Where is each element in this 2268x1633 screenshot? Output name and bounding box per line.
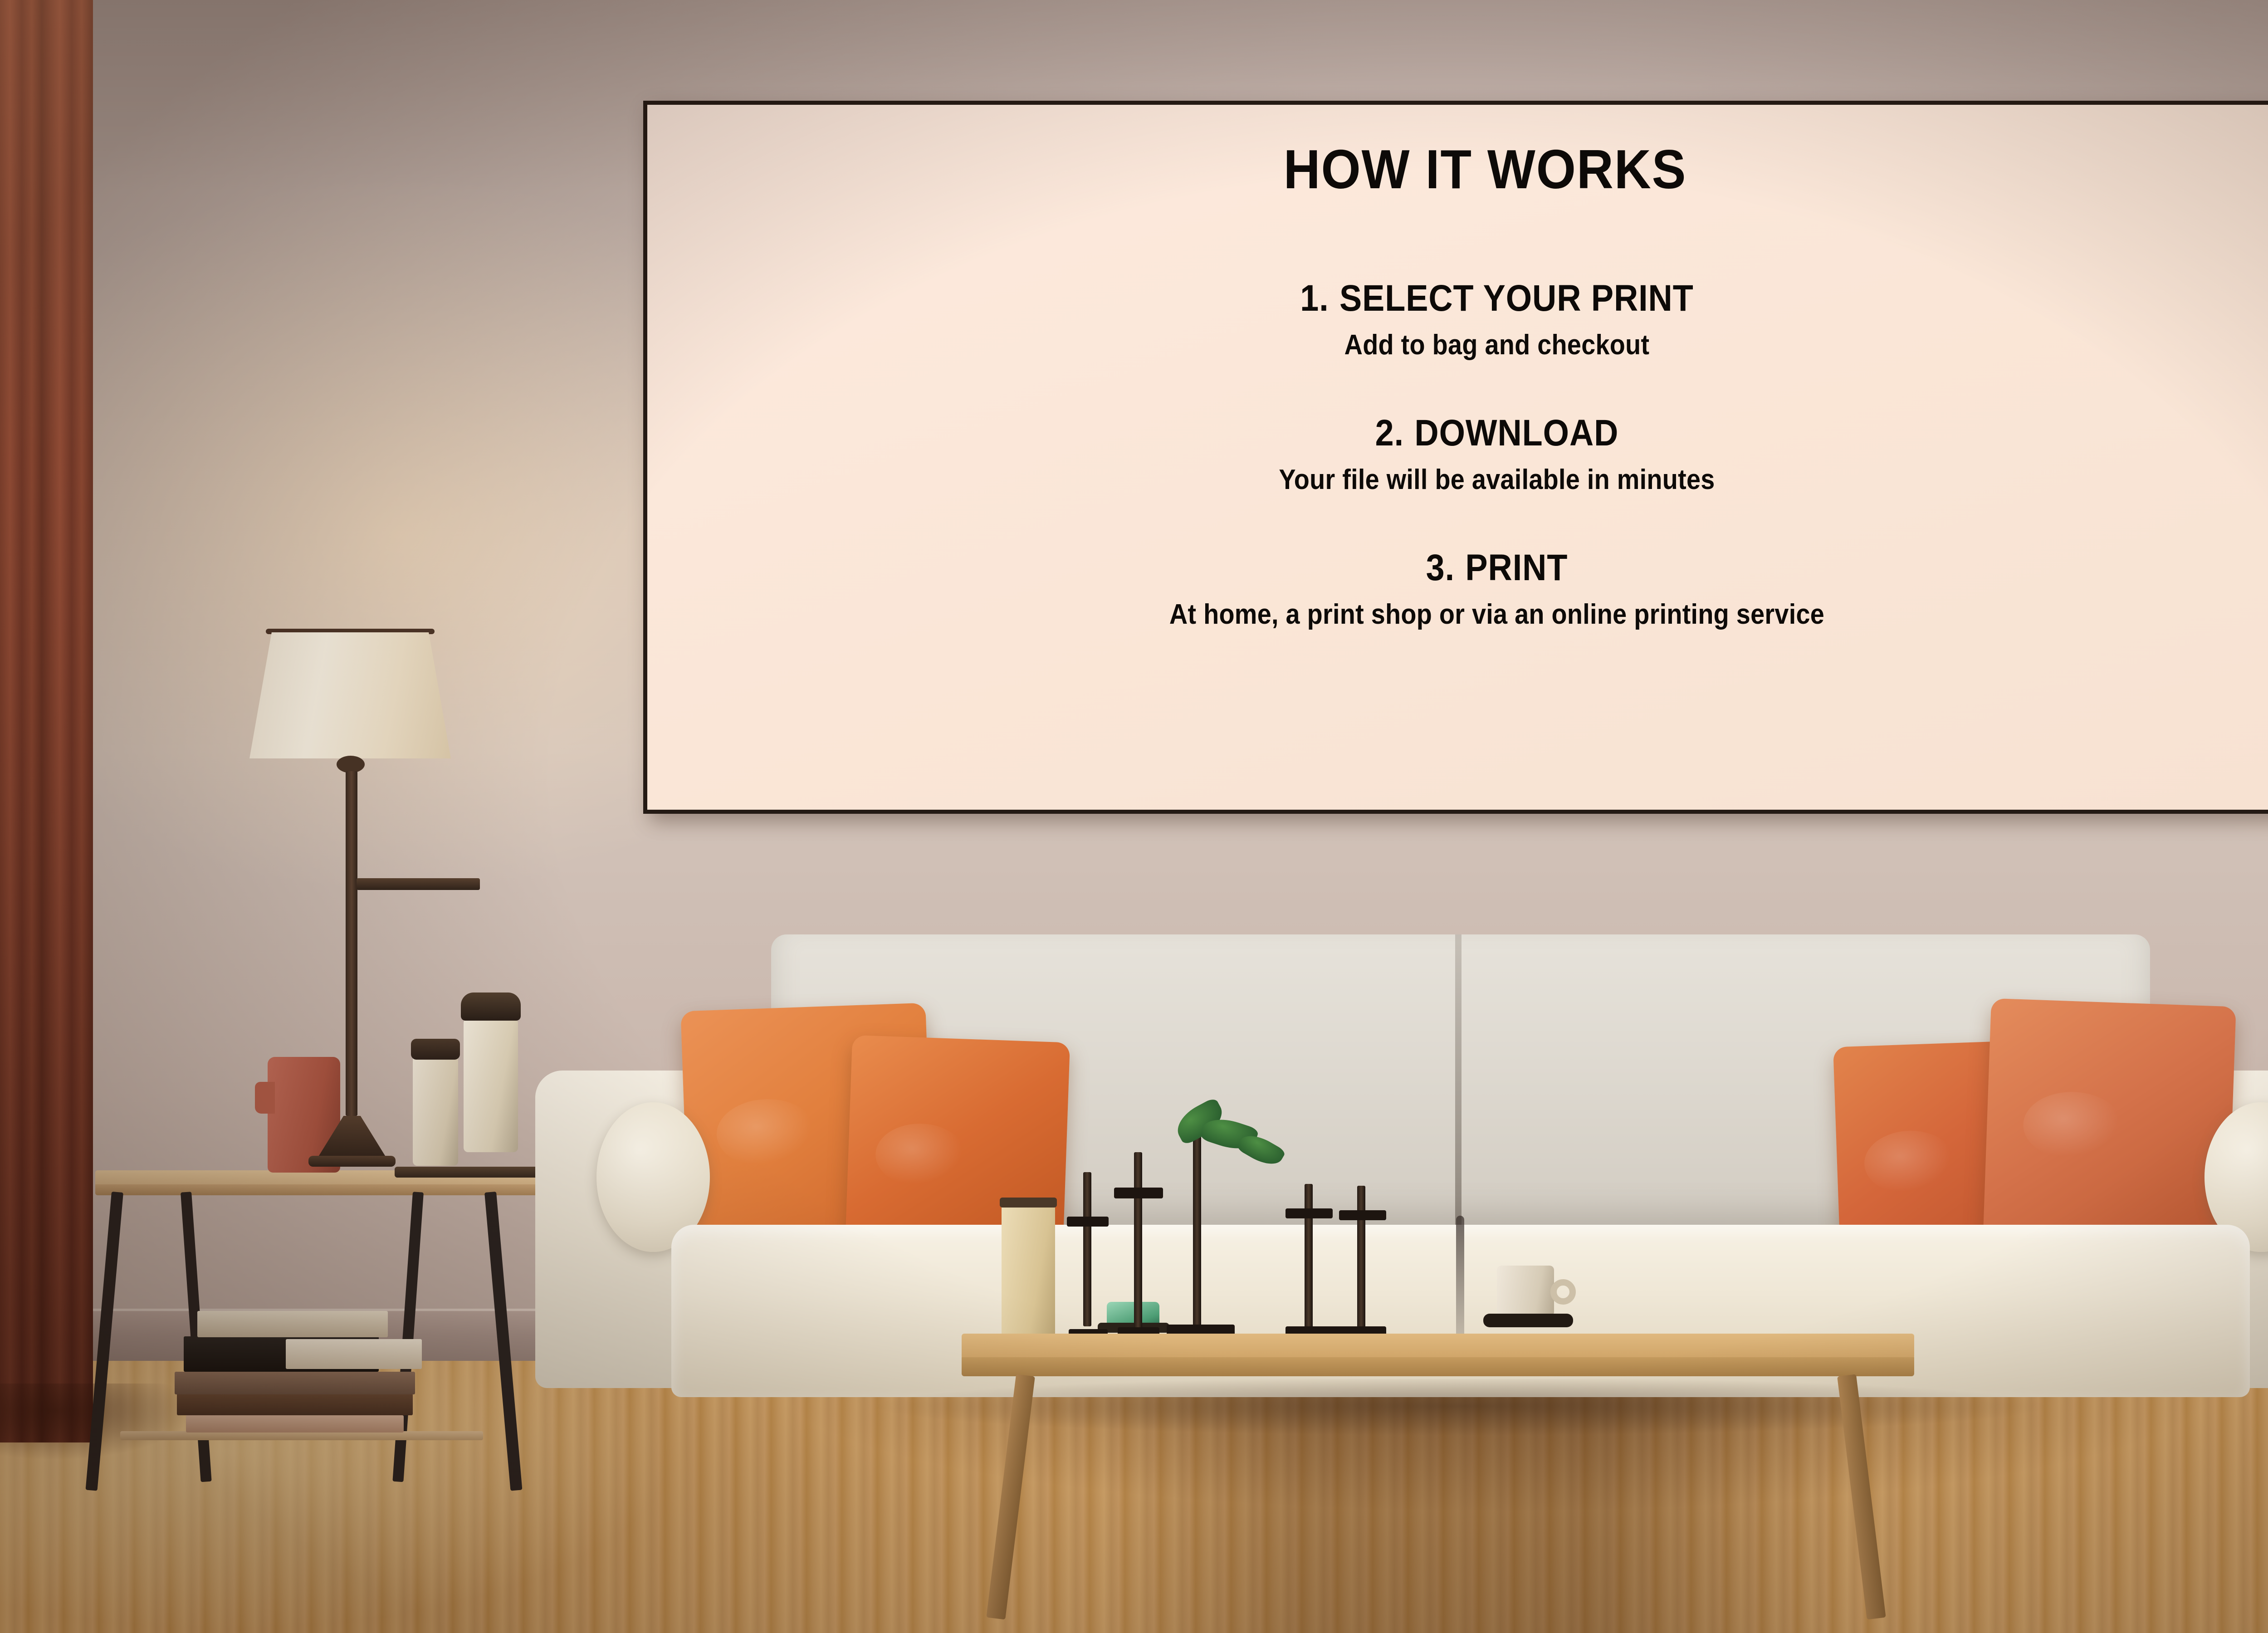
poster-frame[interactable]: HOW IT WORKS 1.SELECT YOUR PRINT Add to … — [643, 101, 2268, 814]
step-subtext-2: Your file will be available in minutes — [743, 464, 2251, 496]
coffee-table-top — [962, 1334, 1914, 1359]
step-item-2: 2.DOWNLOAD Your file will be available i… — [659, 412, 2268, 496]
coffee-table-edge — [962, 1357, 1914, 1376]
step-item-3: 3.PRINT At home, a print shop or via an … — [659, 547, 2268, 631]
lamp-stem — [346, 771, 357, 1116]
step-heading-1: 1.SELECT YOUR PRINT — [743, 277, 2251, 320]
sofa-backrest-seam — [1455, 934, 1461, 1225]
steps-list: 1.SELECT YOUR PRINT Add to bag and check… — [647, 277, 2268, 631]
step-title-2: DOWNLOAD — [1414, 412, 1618, 454]
step-subtext-3: At home, a print shop or via an online p… — [743, 598, 2251, 631]
step-number-3: 3. — [1426, 547, 1455, 588]
step-title-3: PRINT — [1465, 547, 1568, 588]
lamp-arm — [357, 878, 480, 890]
side-table-left — [95, 1170, 562, 1488]
candle-holder — [1305, 1184, 1313, 1328]
step-number-1: 1. — [1300, 278, 1329, 319]
candle-holder — [1357, 1186, 1365, 1329]
step-item-1: 1.SELECT YOUR PRINT Add to bag and check… — [659, 277, 2268, 361]
ceramic-mug — [1497, 1266, 1554, 1316]
mug-handle — [1550, 1279, 1576, 1305]
screenshot-root: HOW IT WORKS 1.SELECT YOUR PRINT Add to … — [0, 0, 2268, 1633]
book — [177, 1393, 413, 1415]
table-leg — [484, 1192, 522, 1491]
step-heading-2: 2.DOWNLOAD — [743, 412, 2251, 455]
step-title-1: SELECT YOUR PRINT — [1339, 278, 1694, 319]
coffee-table-leg — [1837, 1374, 1886, 1619]
page-title: HOW IT WORKS — [714, 137, 2256, 201]
book — [197, 1311, 388, 1337]
lamp-base-plate — [308, 1156, 396, 1167]
table-lamp-left[interactable] — [222, 626, 476, 1170]
cream-vase — [1002, 1204, 1055, 1340]
lamp-shade — [249, 632, 451, 758]
vase-rim — [1000, 1198, 1057, 1208]
book — [186, 1415, 404, 1433]
poster-canvas: HOW IT WORKS 1.SELECT YOUR PRINT Add to … — [647, 105, 2268, 810]
mug-saucer — [1483, 1314, 1573, 1327]
lamp-finial — [337, 756, 365, 773]
book — [175, 1372, 415, 1394]
candle-holder-arm — [1067, 1217, 1109, 1227]
coffee-table — [962, 1334, 1914, 1633]
candle-holder-arm — [1286, 1208, 1333, 1218]
side-table-left-shelf — [120, 1431, 483, 1440]
step-number-2: 2. — [1375, 412, 1404, 454]
curtain-shading — [0, 0, 93, 1442]
candle-holder — [1134, 1152, 1142, 1329]
candle-holder — [1083, 1172, 1091, 1326]
flower-stem-holder — [1193, 1120, 1201, 1327]
candle-holder-arm — [1114, 1188, 1163, 1198]
lamp-base — [317, 1116, 387, 1159]
step-subtext-1: Add to bag and checkout — [743, 329, 2251, 361]
candle-holder-arm — [1339, 1210, 1386, 1220]
step-heading-3: 3.PRINT — [743, 547, 2251, 589]
book — [286, 1339, 422, 1369]
coffee-table-leg — [986, 1374, 1035, 1619]
